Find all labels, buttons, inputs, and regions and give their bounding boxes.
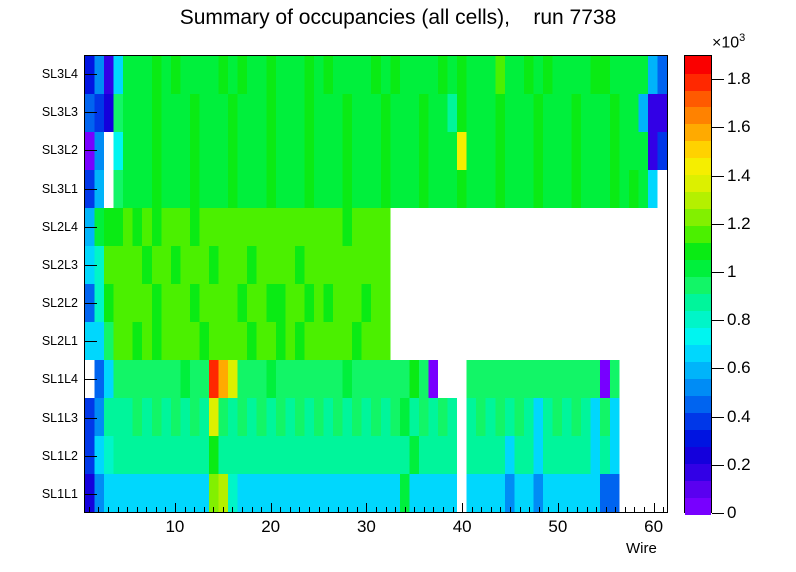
x-axis-minor-tick: [587, 507, 588, 513]
x-axis-minor-tick: [319, 507, 320, 513]
color-scale-band: [685, 497, 711, 515]
x-axis-minor-tick: [194, 507, 195, 513]
x-axis-minor-tick: [567, 507, 568, 513]
color-scale-bar: [684, 55, 712, 513]
x-axis-tick-label: 40: [453, 517, 472, 537]
y-axis-label-sl3l2: SL3L2: [0, 143, 78, 157]
y-axis-label-sl3l4: SL3L4: [0, 67, 78, 81]
x-axis-minor-tick: [625, 507, 626, 513]
color-scale-band: [685, 209, 711, 227]
color-scale-band: [685, 107, 711, 125]
x-axis-minor-tick: [89, 507, 90, 513]
x-axis-minor-tick: [156, 507, 157, 513]
x-axis-minor-tick: [481, 507, 482, 513]
x-axis-minor-tick: [290, 507, 291, 513]
x-axis-minor-tick: [347, 507, 348, 513]
y-axis-label-sl2l4: SL2L4: [0, 220, 78, 234]
color-scale-tick: [712, 272, 724, 273]
y-axis: SL1L1SL1L2SL1L3SL1L4SL2L1SL2L2SL2L3SL2L4…: [0, 0, 796, 572]
x-axis-minor-tick: [252, 507, 253, 513]
x-axis-minor-tick: [223, 507, 224, 513]
x-axis-minor-tick: [510, 507, 511, 513]
x-axis-minor-tick: [529, 507, 530, 513]
color-scale-exponent-power: 3: [739, 32, 745, 44]
y-axis-label-sl2l1: SL2L1: [0, 334, 78, 348]
color-scale-band: [685, 124, 711, 142]
color-scale-band: [685, 90, 711, 108]
color-scale-band: [685, 226, 711, 244]
x-axis-minor-tick: [338, 507, 339, 513]
y-axis-label-sl2l3: SL2L3: [0, 258, 78, 272]
x-axis-minor-tick: [634, 507, 635, 513]
y-axis-tick: [84, 74, 97, 75]
color-scale-band: [685, 463, 711, 481]
x-axis-minor-tick: [357, 507, 358, 513]
color-scale-band: [685, 192, 711, 210]
y-axis-label-sl1l2: SL1L2: [0, 449, 78, 463]
x-axis-minor-tick: [204, 507, 205, 513]
x-axis-minor-tick: [213, 507, 214, 513]
color-scale-band: [685, 327, 711, 345]
color-scale-tick-label: 0.2: [727, 455, 751, 475]
x-axis-minor-tick: [433, 507, 434, 513]
color-scale-tick-label: 0.8: [727, 310, 751, 330]
y-axis-tick: [84, 265, 97, 266]
x-axis-minor-tick: [577, 507, 578, 513]
color-scale-band: [685, 395, 711, 413]
x-axis-minor-tick: [520, 507, 521, 513]
x-axis-minor-tick: [500, 507, 501, 513]
x-axis-major-tick: [175, 503, 176, 513]
color-scale-tick: [712, 513, 724, 514]
x-axis-minor-tick: [376, 507, 377, 513]
x-axis-minor-tick: [328, 507, 329, 513]
x-axis-minor-tick: [242, 507, 243, 513]
color-scale-band: [685, 175, 711, 193]
color-scale-tick: [712, 465, 724, 466]
color-scale-tick-label: 1.6: [727, 117, 751, 137]
color-scale-tick-label: 0.6: [727, 358, 751, 378]
color-scale-exponent: ×103: [712, 32, 745, 52]
x-axis-minor-tick: [261, 507, 262, 513]
x-axis-minor-tick: [644, 507, 645, 513]
y-axis-tick: [84, 418, 97, 419]
x-axis-minor-tick: [539, 507, 540, 513]
color-scale-tick-label: 1: [727, 262, 736, 282]
x-axis-minor-tick: [424, 507, 425, 513]
y-axis-tick: [84, 494, 97, 495]
color-scale-tick: [712, 320, 724, 321]
x-axis-minor-tick: [118, 507, 119, 513]
x-axis-minor-tick: [443, 507, 444, 513]
x-axis-minor-tick: [232, 507, 233, 513]
x-axis-major-tick: [558, 503, 559, 513]
x-axis-minor-tick: [453, 507, 454, 513]
x-axis-title: Wire: [626, 540, 657, 557]
color-scale-tick-label: 0.4: [727, 407, 751, 427]
y-axis-label-sl3l1: SL3L1: [0, 182, 78, 196]
color-scale-band: [685, 243, 711, 261]
x-axis-tick-label: 50: [548, 517, 567, 537]
x-axis-minor-tick: [137, 507, 138, 513]
color-scale-tick: [712, 368, 724, 369]
x-axis-minor-tick: [386, 507, 387, 513]
x-axis-minor-tick: [615, 507, 616, 513]
color-scale-band: [685, 73, 711, 91]
color-scale-band: [685, 378, 711, 396]
x-axis-minor-tick: [280, 507, 281, 513]
y-axis-tick: [84, 341, 97, 342]
y-axis-tick: [84, 150, 97, 151]
color-scale-band: [685, 361, 711, 379]
color-scale-tick: [712, 176, 724, 177]
y-axis-tick: [84, 456, 97, 457]
color-scale-tick: [712, 79, 724, 80]
color-scale-tick: [712, 127, 724, 128]
color-scale-band: [685, 310, 711, 328]
color-scale-band: [685, 141, 711, 159]
x-axis-minor-tick: [165, 507, 166, 513]
color-scale-tick: [712, 224, 724, 225]
y-axis-tick: [84, 227, 97, 228]
color-scale-band: [685, 158, 711, 176]
x-axis-minor-tick: [414, 507, 415, 513]
color-scale-band: [685, 260, 711, 278]
x-axis-minor-tick: [491, 507, 492, 513]
x-axis-minor-tick: [596, 507, 597, 513]
color-scale-band: [685, 446, 711, 464]
color-scale-band: [685, 56, 711, 74]
x-axis-tick-label: 60: [644, 517, 663, 537]
x-axis-major-tick: [654, 503, 655, 513]
color-scale-band: [685, 293, 711, 311]
x-axis-minor-tick: [98, 507, 99, 513]
y-axis-label-sl1l3: SL1L3: [0, 411, 78, 425]
color-scale-band: [685, 412, 711, 430]
y-axis-tick: [84, 112, 97, 113]
x-axis-minor-tick: [127, 507, 128, 513]
x-axis-tick-label: 10: [165, 517, 184, 537]
x-axis-minor-tick: [309, 507, 310, 513]
x-axis-minor-tick: [146, 507, 147, 513]
x-axis-tick-label: 20: [261, 517, 280, 537]
color-scale-tick-label: 1.2: [727, 214, 751, 234]
x-axis-minor-tick: [395, 507, 396, 513]
y-axis-tick: [84, 379, 97, 380]
y-axis-label-sl3l3: SL3L3: [0, 105, 78, 119]
y-axis-tick: [84, 189, 97, 190]
x-axis-minor-tick: [663, 507, 664, 513]
x-axis-minor-tick: [185, 507, 186, 513]
y-axis-label-sl1l1: SL1L1: [0, 487, 78, 501]
color-scale-tick-label: 1.4: [727, 166, 751, 186]
color-scale-band: [685, 429, 711, 447]
x-axis-tick-label: 30: [357, 517, 376, 537]
y-axis-label-sl1l4: SL1L4: [0, 372, 78, 386]
color-scale-tick-label: 1.8: [727, 69, 751, 89]
color-scale-exponent-base: ×10: [712, 34, 739, 51]
x-axis-minor-tick: [606, 507, 607, 513]
x-axis-minor-tick: [472, 507, 473, 513]
color-scale-band: [685, 480, 711, 498]
x-axis-minor-tick: [405, 507, 406, 513]
y-axis-tick: [84, 303, 97, 304]
plot-canvas: Summary of occupancies (all cells), run …: [0, 0, 796, 572]
x-axis-minor-tick: [548, 507, 549, 513]
x-axis-minor-tick: [108, 507, 109, 513]
x-axis-minor-tick: [299, 507, 300, 513]
x-axis-major-tick: [462, 503, 463, 513]
y-axis-label-sl2l2: SL2L2: [0, 296, 78, 310]
color-scale-tick-label: 0: [727, 503, 736, 523]
color-scale-tick: [712, 417, 724, 418]
x-axis-major-tick: [271, 503, 272, 513]
color-scale-band: [685, 344, 711, 362]
x-axis-major-tick: [366, 503, 367, 513]
color-scale-band: [685, 277, 711, 295]
